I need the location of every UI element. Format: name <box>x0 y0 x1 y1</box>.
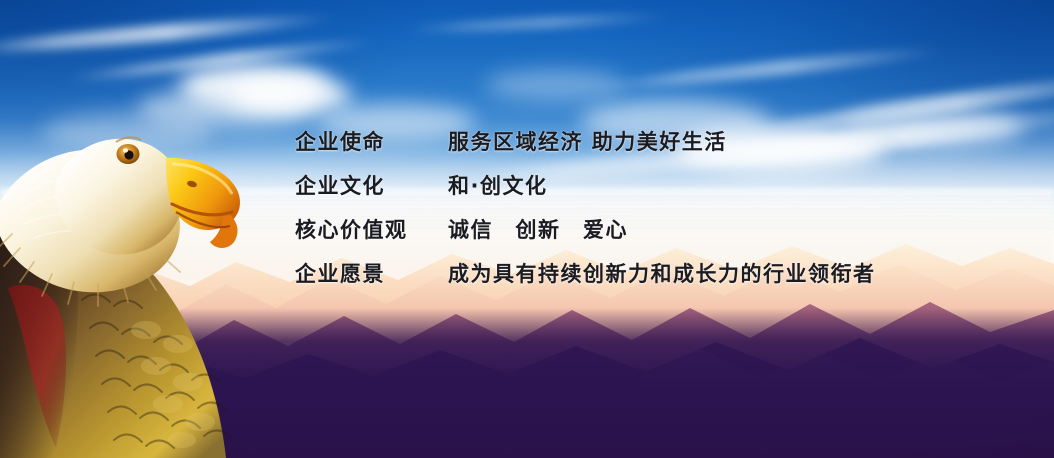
culture-line-culture: 企业文化 和·创文化 <box>295 164 876 208</box>
culture-label: 企业文化 <box>295 164 448 208</box>
vision-label: 企业愿景 <box>295 252 448 296</box>
mission-value: 服务区域经济 助力美好生活 <box>448 120 727 164</box>
vision-value: 成为具有持续创新力和成长力的行业领衔者 <box>448 252 876 296</box>
eagle-illustration <box>0 92 286 458</box>
culture-line-values: 核心价值观 诚信 创新 爱心 <box>295 208 876 252</box>
culture-value: 和·创文化 <box>448 164 547 208</box>
culture-text-block: 企业使命 服务区域经济 助力美好生活 企业文化 和·创文化 核心价值观 诚信 创… <box>295 120 876 296</box>
culture-line-mission: 企业使命 服务区域经济 助力美好生活 <box>295 120 876 164</box>
culture-line-vision: 企业愿景 成为具有持续创新力和成长力的行业领衔者 <box>295 252 876 296</box>
bald-eagle-icon <box>0 92 286 458</box>
mission-label: 企业使命 <box>295 120 448 164</box>
values-value: 诚信 创新 爱心 <box>448 208 628 252</box>
values-label: 核心价值观 <box>295 208 448 252</box>
culture-banner: 企业使命 服务区域经济 助力美好生活 企业文化 和·创文化 核心价值观 诚信 创… <box>0 0 1054 458</box>
